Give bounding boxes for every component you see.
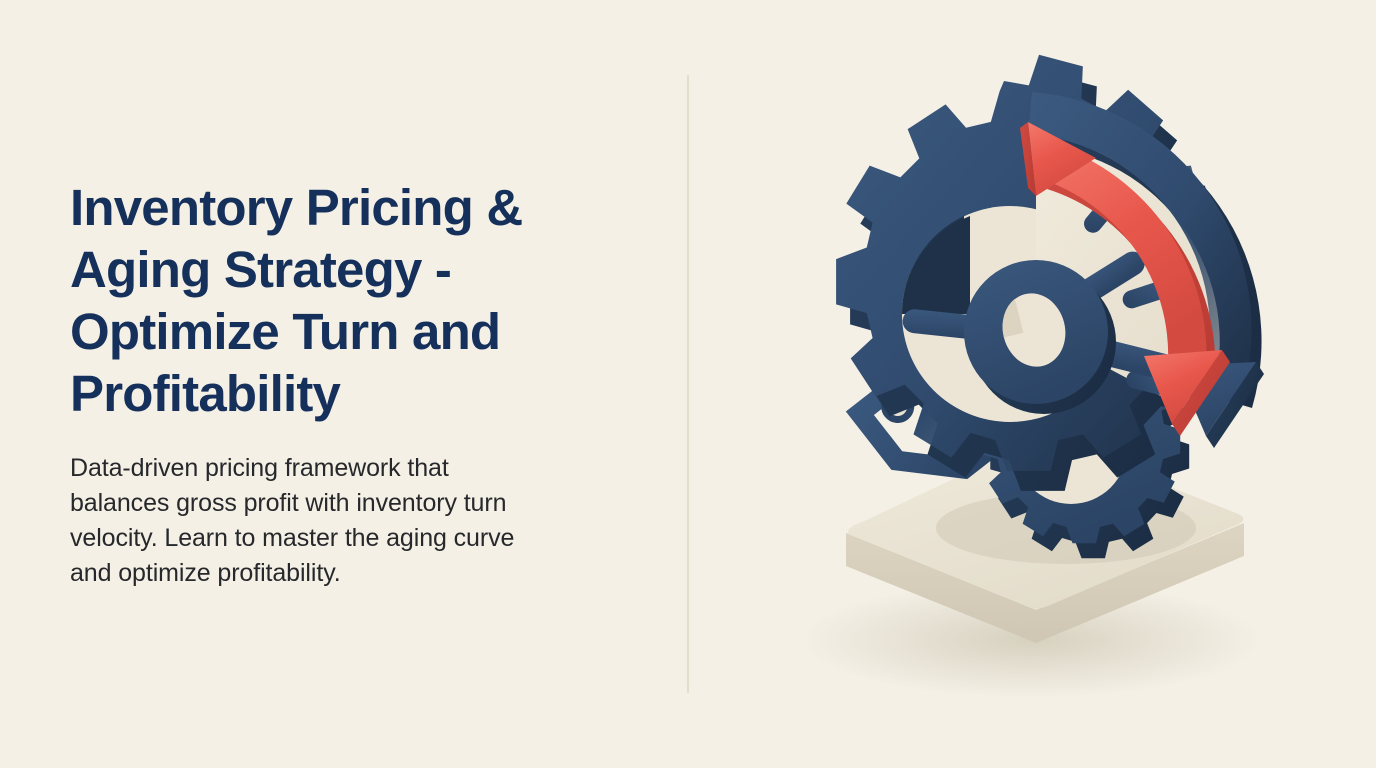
slide-root: Inventory Pricing & Aging Strategy - Opt… <box>0 0 1376 768</box>
gear-clock-illustration <box>736 0 1376 768</box>
page-subtitle: Data-driven pricing framework that balan… <box>70 451 630 591</box>
vertical-divider <box>687 75 689 693</box>
page-title: Inventory Pricing & Aging Strategy - Opt… <box>70 177 640 425</box>
text-column: Inventory Pricing & Aging Strategy - Opt… <box>70 0 640 768</box>
